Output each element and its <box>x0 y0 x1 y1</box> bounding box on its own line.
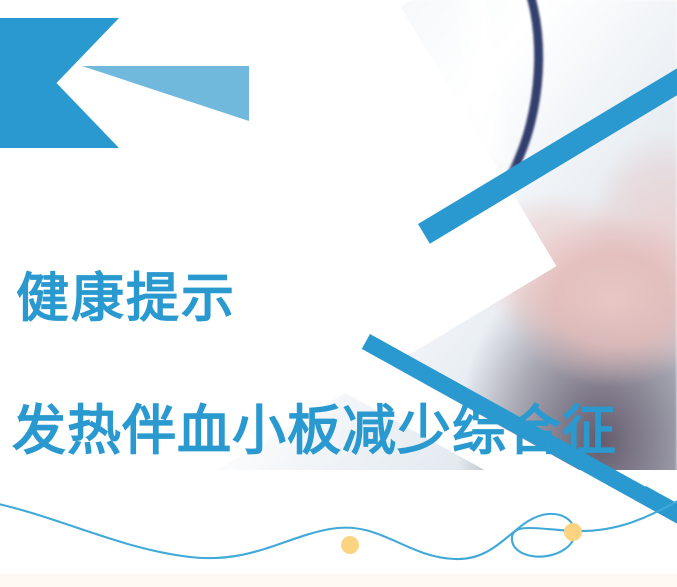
yellow-dot-left <box>341 536 359 554</box>
page-subtitle: 发热伴血小板减少综合征 <box>12 404 617 458</box>
wave-svg <box>0 467 677 587</box>
page-title: 健康提示 <box>16 272 236 325</box>
decorative-wave <box>0 467 677 587</box>
yellow-dot-right <box>564 523 582 541</box>
health-tip-poster: 健康提示 发热伴血小板减少综合征 <box>0 0 677 587</box>
light-blue-triangle <box>82 66 249 121</box>
footer-strip <box>0 574 677 587</box>
